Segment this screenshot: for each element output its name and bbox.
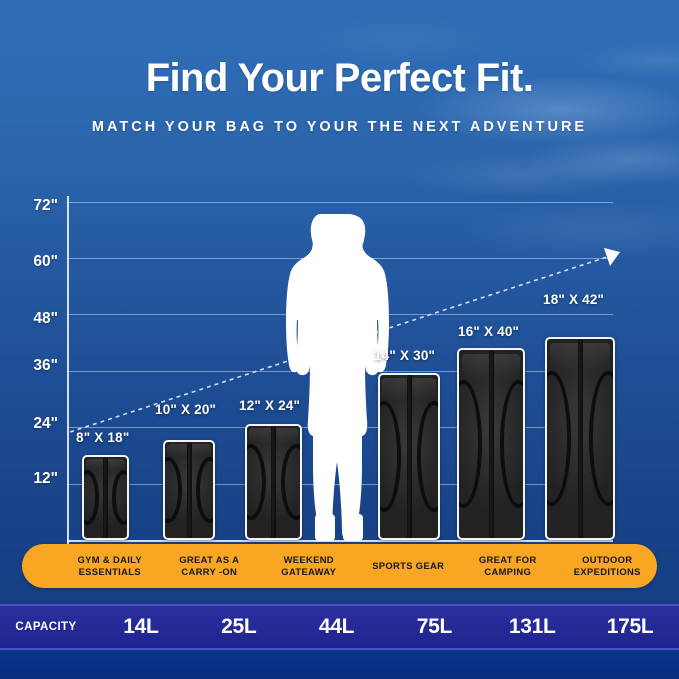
standing-person-silhouette (285, 214, 389, 541)
y-tick-48: 48" (0, 310, 58, 328)
bag-strap (271, 426, 276, 538)
page-title: Find Your Perfect Fit. (0, 58, 679, 98)
bag-seam-left (545, 371, 571, 506)
bag-seam-left (82, 470, 99, 525)
capacity-value-6: 175L (581, 615, 679, 639)
bag-strap (187, 442, 192, 538)
category-6[interactable]: OUTDOOR EXPEDITIONS (558, 554, 658, 578)
y-tick-12: 12" (0, 470, 58, 488)
category-band: GYM & DAILY ESSENTIALS GREAT AS A CARRY … (22, 544, 657, 588)
capacity-band: CAPACITY 14L 25L 44L 75L 131L 175L (0, 604, 679, 650)
header: Find Your Perfect Fit. MATCH YOUR BAG TO… (0, 58, 679, 135)
capacity-value-1: 14L (92, 615, 190, 639)
y-tick-72: 72" (0, 197, 58, 215)
page-subtitle: MATCH YOUR BAG TO YOUR THE NEXT ADVENTUR… (0, 119, 679, 135)
capacity-value-2: 25L (190, 615, 288, 639)
bag-seam-left (457, 380, 482, 508)
gridline-72 (67, 202, 613, 203)
bag-bar-5[interactable] (457, 348, 525, 540)
bottom-strip (0, 650, 679, 679)
category-1[interactable]: GYM & DAILY ESSENTIALS (60, 554, 160, 578)
bag-strap (407, 375, 412, 538)
bag-label-4: 14" X 30" (374, 348, 435, 363)
bag-label-1: 8" X 18" (76, 430, 129, 445)
capacity-value-5: 131L (483, 615, 581, 639)
bag-strap (578, 339, 583, 538)
bag-seam-right (417, 401, 440, 512)
bag-label-2: 10" X 20" (155, 402, 216, 417)
bag-seam-left (163, 457, 182, 522)
bag-strap (489, 350, 494, 538)
capacity-value-4: 75L (385, 615, 483, 639)
y-axis-line (67, 196, 69, 544)
infographic-root: Find Your Perfect Fit. MATCH YOUR BAG TO… (0, 0, 679, 679)
bag-seam-right (112, 470, 129, 525)
bag-bar-1[interactable] (82, 455, 129, 540)
bag-strap (103, 457, 108, 538)
category-2[interactable]: GREAT AS A CARRY -ON (160, 554, 260, 578)
y-tick-24: 24" (0, 415, 58, 433)
bag-seam-left (245, 444, 266, 520)
category-3[interactable]: WEEKEND GATEAWAY (259, 554, 359, 578)
bag-seam-right (589, 371, 615, 506)
bag-seam-right (196, 457, 215, 522)
category-5[interactable]: GREAT FOR CAMPING (458, 554, 558, 578)
category-4[interactable]: SPORTS GEAR (359, 560, 459, 572)
capacity-label: CAPACITY (0, 621, 92, 633)
y-tick-60: 60" (0, 253, 58, 271)
bag-label-3: 12" X 24" (239, 398, 300, 413)
capacity-value-3: 44L (288, 615, 386, 639)
bag-seam-right (500, 380, 525, 508)
bag-bar-2[interactable] (163, 440, 215, 540)
bag-bar-6[interactable] (545, 337, 615, 540)
y-tick-36: 36" (0, 357, 58, 375)
bag-label-6: 18" X 42" (543, 292, 604, 307)
bag-label-5: 16" X 40" (458, 324, 519, 339)
